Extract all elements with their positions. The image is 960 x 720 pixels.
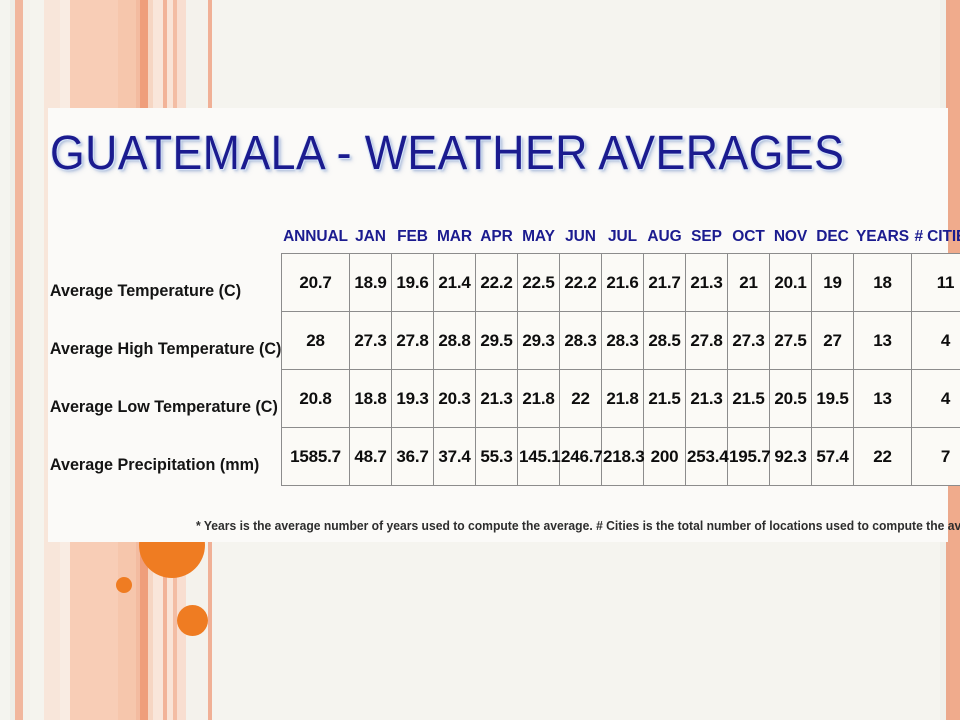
table-cell: 21.3 xyxy=(686,254,728,312)
table-cell: 55.3 xyxy=(476,428,518,486)
column-header-mar: MAR xyxy=(434,228,476,254)
table-row: 1585.7 48.7 36.7 37.4 55.3 145.1 246.7 2… xyxy=(282,428,960,486)
table-row: 28 27.3 27.8 28.8 29.5 29.3 28.3 28.3 28… xyxy=(282,312,960,370)
table-cell: 21.7 xyxy=(644,254,686,312)
table-cell: 7 xyxy=(912,428,960,486)
column-header-jun: JUN xyxy=(560,228,602,254)
row-label: Average High Temperature (C) xyxy=(48,320,268,378)
table-cell: 37.4 xyxy=(434,428,476,486)
row-label: Average Temperature (C) xyxy=(48,262,268,320)
weather-table-wrapper: ANNUAL JAN FEB MAR APR MAY JUN JUL AUG S… xyxy=(281,228,928,486)
table-cell: 13 xyxy=(854,312,912,370)
table-cell: 19 xyxy=(812,254,854,312)
table-cell: 22 xyxy=(854,428,912,486)
table-cell: 21.8 xyxy=(602,370,644,428)
table-cell: 253.4 xyxy=(686,428,728,486)
table-cell: 29.5 xyxy=(476,312,518,370)
table-header-row: ANNUAL JAN FEB MAR APR MAY JUN JUL AUG S… xyxy=(282,228,960,254)
circle-small xyxy=(116,577,132,593)
column-header-oct: OCT xyxy=(728,228,770,254)
table-cell: 20.8 xyxy=(282,370,350,428)
table-cell: 18 xyxy=(854,254,912,312)
table-cell: 1585.7 xyxy=(282,428,350,486)
column-header-aug: AUG xyxy=(644,228,686,254)
column-header-dec: DEC xyxy=(812,228,854,254)
table-cell: 27.8 xyxy=(686,312,728,370)
table-cell: 21.4 xyxy=(434,254,476,312)
table-cell: 21.8 xyxy=(518,370,560,428)
table-cell: 21.3 xyxy=(686,370,728,428)
table-cell: 20.3 xyxy=(434,370,476,428)
column-header-sep: SEP xyxy=(686,228,728,254)
table-cell: 20.7 xyxy=(282,254,350,312)
row-label: Average Low Temperature (C) xyxy=(48,378,268,436)
column-header-cities: # CITIES xyxy=(912,228,960,254)
table-head: ANNUAL JAN FEB MAR APR MAY JUN JUL AUG S… xyxy=(282,228,960,254)
table-cell: 21.5 xyxy=(644,370,686,428)
table-cell: 4 xyxy=(912,312,960,370)
stripe xyxy=(23,0,30,720)
circle-medium xyxy=(177,605,208,636)
table-cell: 19.5 xyxy=(812,370,854,428)
table-cell: 218.3 xyxy=(602,428,644,486)
table-cell: 18.8 xyxy=(350,370,392,428)
table-cell: 92.3 xyxy=(770,428,812,486)
table-cell: 22.2 xyxy=(560,254,602,312)
table-cell: 145.1 xyxy=(518,428,560,486)
column-header-annual: ANNUAL xyxy=(282,228,350,254)
table-cell: 246.7 xyxy=(560,428,602,486)
row-label-column: Average Temperature (C) Average High Tem… xyxy=(48,262,280,494)
table-cell: 19.6 xyxy=(392,254,434,312)
table-cell: 22 xyxy=(560,370,602,428)
table-cell: 18.9 xyxy=(350,254,392,312)
table-cell: 36.7 xyxy=(392,428,434,486)
table-footnote: * Years is the average number of years u… xyxy=(196,519,914,533)
page-title: GUATEMALA - WEATHER AVERAGES xyxy=(50,126,844,181)
table-cell: 21 xyxy=(728,254,770,312)
table-cell: 21.6 xyxy=(602,254,644,312)
column-header-jul: JUL xyxy=(602,228,644,254)
table-cell: 28.3 xyxy=(560,312,602,370)
row-label: Average Precipitation (mm) xyxy=(48,436,268,494)
column-header-jan: JAN xyxy=(350,228,392,254)
table-cell: 21.5 xyxy=(728,370,770,428)
table-cell: 200 xyxy=(644,428,686,486)
table-cell: 48.7 xyxy=(350,428,392,486)
table-cell: 13 xyxy=(854,370,912,428)
stripe xyxy=(0,0,10,720)
table-cell: 27.8 xyxy=(392,312,434,370)
weather-averages-table: ANNUAL JAN FEB MAR APR MAY JUN JUL AUG S… xyxy=(281,228,960,486)
table-cell: 27 xyxy=(812,312,854,370)
table-cell: 4 xyxy=(912,370,960,428)
column-header-may: MAY xyxy=(518,228,560,254)
slide: GUATEMALA - WEATHER AVERAGES Average Tem… xyxy=(0,0,960,720)
table-cell: 20.1 xyxy=(770,254,812,312)
table-cell: 195.7 xyxy=(728,428,770,486)
table-cell: 22.2 xyxy=(476,254,518,312)
table-row: 20.8 18.8 19.3 20.3 21.3 21.8 22 21.8 21… xyxy=(282,370,960,428)
table-cell: 28 xyxy=(282,312,350,370)
table-cell: 21.3 xyxy=(476,370,518,428)
stripe xyxy=(30,0,44,720)
table-cell: 11 xyxy=(912,254,960,312)
table-cell: 57.4 xyxy=(812,428,854,486)
table-body: 20.7 18.9 19.6 21.4 22.2 22.5 22.2 21.6 … xyxy=(282,254,960,486)
table-cell: 28.3 xyxy=(602,312,644,370)
stripe xyxy=(15,0,23,720)
table-cell: 22.5 xyxy=(518,254,560,312)
column-header-nov: NOV xyxy=(770,228,812,254)
table-cell: 27.3 xyxy=(728,312,770,370)
table-cell: 27.5 xyxy=(770,312,812,370)
page-title-text: GUATEMALA - WEATHER AVERAGES xyxy=(50,127,844,180)
table-cell: 28.5 xyxy=(644,312,686,370)
table-cell: 29.3 xyxy=(518,312,560,370)
table-cell: 28.8 xyxy=(434,312,476,370)
table-cell: 20.5 xyxy=(770,370,812,428)
table-cell: 19.3 xyxy=(392,370,434,428)
table-row: 20.7 18.9 19.6 21.4 22.2 22.5 22.2 21.6 … xyxy=(282,254,960,312)
column-header-apr: APR xyxy=(476,228,518,254)
column-header-years: YEARS xyxy=(854,228,912,254)
column-header-feb: FEB xyxy=(392,228,434,254)
table-cell: 27.3 xyxy=(350,312,392,370)
